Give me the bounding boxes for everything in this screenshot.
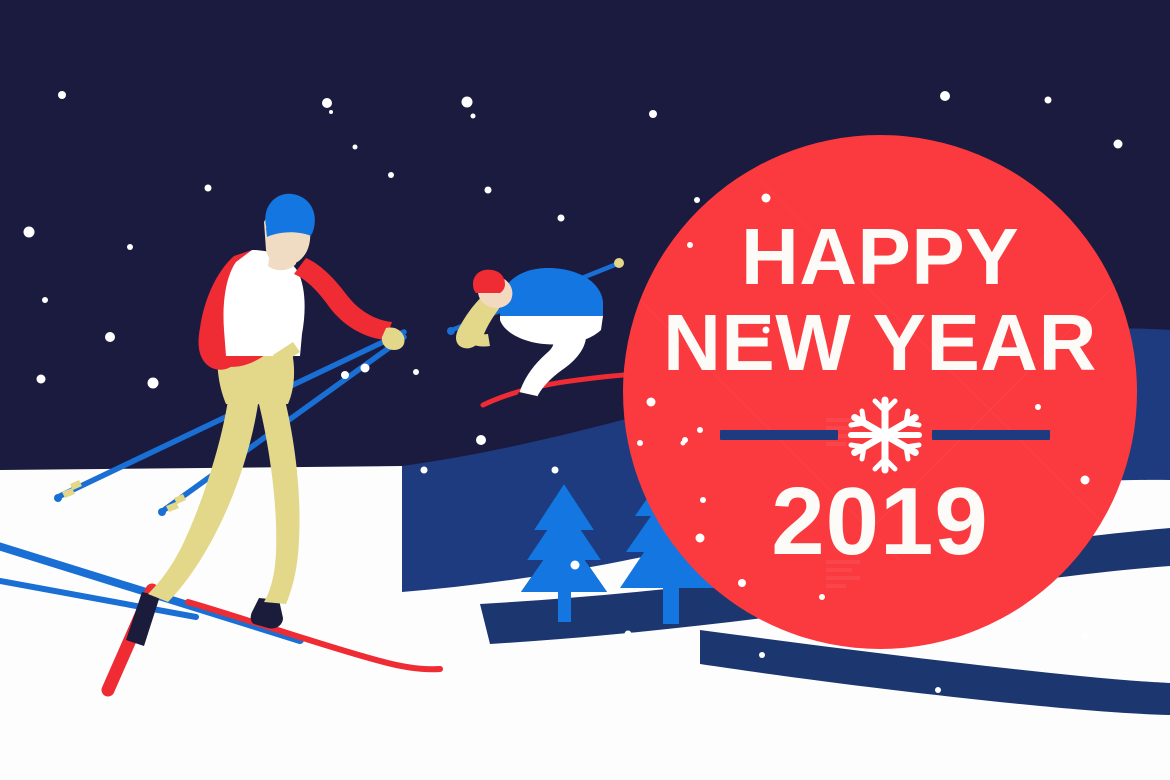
star <box>471 114 476 119</box>
star <box>552 467 559 474</box>
star <box>637 440 643 446</box>
star <box>1082 633 1088 639</box>
star <box>205 185 212 192</box>
front-skier-pole-left-tip <box>54 494 62 502</box>
star <box>1114 140 1123 149</box>
star <box>37 375 46 384</box>
star <box>388 172 394 178</box>
star <box>700 497 706 503</box>
star <box>361 364 370 373</box>
star <box>329 110 333 114</box>
star <box>647 398 656 407</box>
star <box>127 244 133 250</box>
star <box>935 687 941 693</box>
star <box>462 97 473 108</box>
star <box>558 215 565 222</box>
star <box>762 194 771 203</box>
back-skier-pole-tip <box>447 327 455 335</box>
front-skier-pole-right-tip <box>158 508 166 516</box>
star <box>353 145 358 150</box>
star <box>696 534 705 543</box>
star <box>476 435 486 445</box>
star <box>819 594 825 600</box>
star <box>687 242 693 248</box>
star <box>148 378 159 389</box>
star <box>571 561 580 570</box>
star <box>694 197 700 203</box>
star <box>681 441 686 446</box>
star <box>105 332 115 342</box>
star <box>42 297 48 303</box>
star <box>341 371 349 379</box>
divider-dash-right <box>932 430 1050 440</box>
divider-dash-left <box>720 430 838 440</box>
star <box>1081 476 1090 485</box>
star <box>1035 404 1041 410</box>
badge-circle <box>623 135 1137 649</box>
star <box>940 91 950 101</box>
star <box>738 579 746 587</box>
star <box>24 227 35 238</box>
star <box>58 91 66 99</box>
star <box>485 187 492 194</box>
illustration-artboard <box>0 0 1170 780</box>
back-skier-pole-grip <box>614 258 624 268</box>
star <box>413 369 419 375</box>
poster-canvas: HAPPY NEW YEAR 2019 <box>0 0 1170 780</box>
star <box>759 652 765 658</box>
star <box>421 467 428 474</box>
star <box>697 427 703 433</box>
star <box>649 110 657 118</box>
star <box>322 98 332 108</box>
star <box>625 631 632 638</box>
star <box>763 327 770 334</box>
snowflake-icon <box>851 400 919 470</box>
star <box>1045 97 1052 104</box>
